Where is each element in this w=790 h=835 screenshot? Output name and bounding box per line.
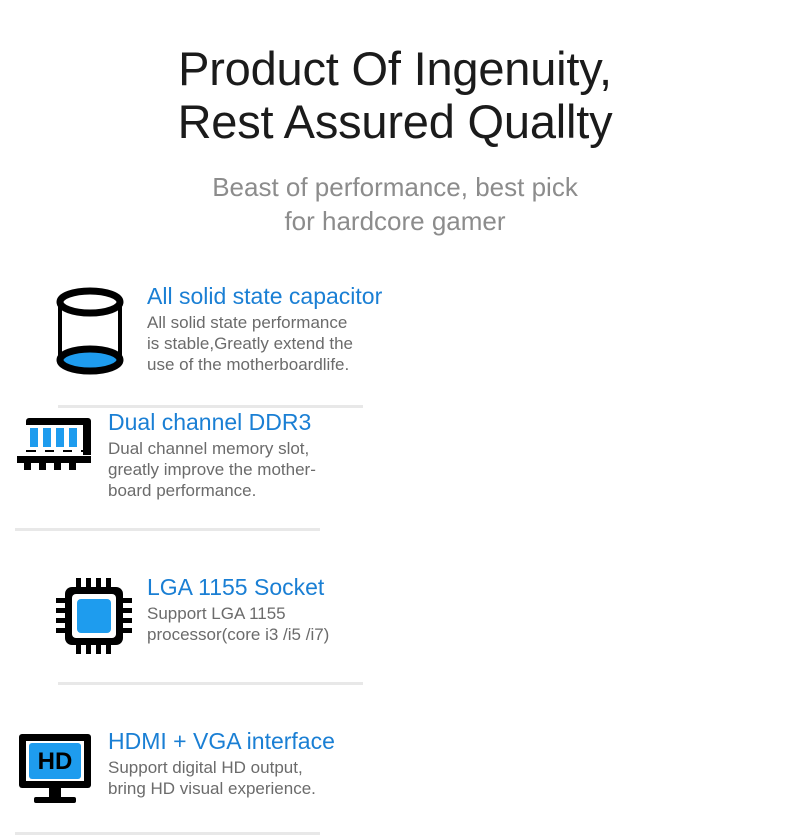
product-feature-page: Product Of Ingenuity, Rest Assured Quall…	[0, 0, 790, 687]
feature-description: Dual channel memory slot, greatly improv…	[108, 438, 316, 501]
feature-grid: All solid state capacitor All solid stat…	[0, 282, 790, 835]
hero-section: Product Of Ingenuity, Rest Assured Quall…	[0, 0, 790, 238]
feature-text: LGA 1155 Socket Support LGA 1155 process…	[147, 573, 329, 645]
feature-text: All solid state capacitor All solid stat…	[147, 282, 382, 375]
feature-title: Dual channel DDR3	[108, 408, 316, 436]
feature-text: Dual channel DDR3 Dual channel memory sl…	[108, 408, 316, 501]
feature-description: Support digital HD output, bring HD visu…	[108, 757, 335, 799]
feature-title: LGA 1155 Socket	[147, 573, 329, 601]
divider	[58, 682, 363, 685]
feature-title: HDMI + VGA interface	[108, 727, 335, 755]
monitor-screen-label: HD	[38, 748, 73, 775]
feature-description: Support LGA 1155 processor(core i3 /i5 /…	[147, 603, 329, 645]
cpu-chip-icon	[55, 573, 147, 655]
capacitor-icon	[55, 282, 147, 378]
feature-card-socket: LGA 1155 Socket Support LGA 1155 process…	[55, 573, 428, 685]
feature-card-display: HD HDMI + VGA interface Support digital …	[12, 727, 385, 835]
page-subtitle: Beast of performance, best pick for hard…	[0, 170, 790, 238]
feature-text: HDMI + VGA interface Support digital HD …	[108, 727, 335, 799]
hd-monitor-icon: HD	[12, 727, 108, 805]
page-title: Product Of Ingenuity, Rest Assured Quall…	[0, 42, 790, 148]
divider	[15, 528, 320, 531]
feature-description: All solid state performance is stable,Gr…	[147, 312, 382, 375]
feature-card-capacitor: All solid state capacitor All solid stat…	[55, 282, 428, 408]
feature-title: All solid state capacitor	[147, 282, 382, 310]
memory-module-icon	[12, 408, 108, 474]
feature-card-memory: Dual channel DDR3 Dual channel memory sl…	[12, 408, 385, 531]
